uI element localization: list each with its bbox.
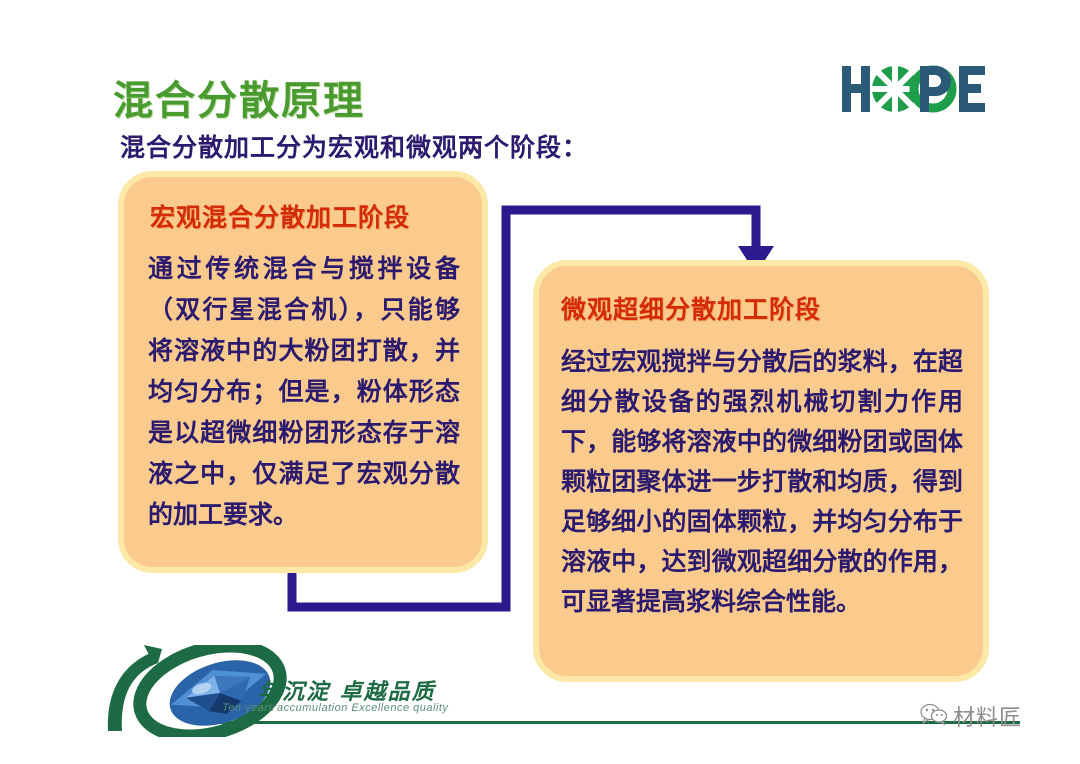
hope-logo <box>840 62 990 118</box>
anniversary-slogan-en: Ten years'accumulation Excellence qualit… <box>222 702 448 714</box>
hope-logo-letter-h <box>842 66 870 112</box>
stage-micro-heading: 微观超细分散加工阶段 <box>561 290 983 326</box>
watermark: 材料匠 <box>920 700 1022 732</box>
anniversary-swoosh-icon <box>108 645 162 731</box>
stage-micro-body: 经过宏观搅拌与分散后的浆料，在超细分散设备的强烈机械切割力作用下，能够将溶液中的… <box>561 342 963 622</box>
stage-box-macro: 宏观混合分散加工阶段 通过传统混合与搅拌设备（双行星混合机），只能够将溶液中的大… <box>118 171 488 573</box>
page-title: 混合分散原理 <box>113 68 365 126</box>
stage-macro-body: 通过传统混合与搅拌设备（双行星混合机），只能够将溶液中的大粉团打散，并均匀分布；… <box>148 248 460 535</box>
stage-box-micro: 微观超细分散加工阶段 经过宏观搅拌与分散后的浆料，在超细分散设备的强烈机械切割力… <box>533 260 989 682</box>
slide-canvas: 混合分散原理 混合分散加工分为宏观和微观两个阶段： <box>0 0 1080 764</box>
wechat-icon <box>920 703 948 730</box>
stage-macro-heading: 宏观混合分散加工阶段 <box>150 198 482 234</box>
watermark-label: 材料匠 <box>953 700 1022 732</box>
hope-logo-letter-e <box>959 66 985 112</box>
page-subtitle: 混合分散加工分为宏观和微观两个阶段： <box>120 128 588 164</box>
